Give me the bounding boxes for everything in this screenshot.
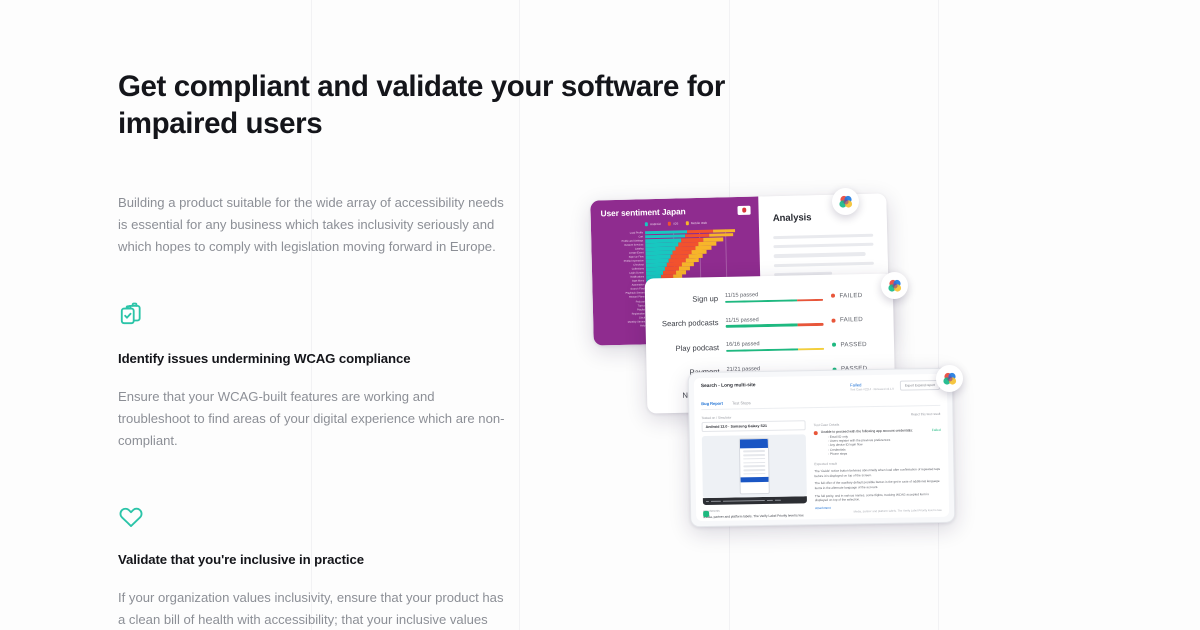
expected-result-label: Expected result — [814, 460, 941, 466]
applause-logo-icon — [881, 272, 908, 299]
product-screenshot-collage: User sentiment Japan Android iOS Mobile … — [583, 180, 1003, 550]
bug-report-body: Search - Long multi-site Failed Test Cas… — [694, 374, 949, 521]
report-paragraph: The 'Guide' notice button behaves abnorm… — [814, 467, 941, 478]
status-label: FAILED — [840, 316, 863, 323]
report-paragraph: The full parity, and in various names, s… — [815, 492, 942, 503]
status-badge: FAILED — [831, 316, 885, 324]
sentiment-header: User sentiment Japan — [600, 205, 750, 219]
legend-item-ios: iOS — [668, 221, 679, 225]
page-title: Get compliant and validate your software… — [118, 68, 728, 142]
tab-test-steps[interactable]: Test Steps — [732, 400, 751, 405]
feature-title: Validate that you're inclusive in practi… — [118, 552, 518, 567]
hero-intro-paragraph: Building a product suitable for the wide… — [118, 192, 506, 258]
test-progress: 16/16 passed — [726, 340, 832, 352]
test-name: Search podcasts — [655, 318, 725, 328]
chart-bar-segment — [679, 267, 690, 271]
heart-icon — [118, 502, 144, 528]
video-preview[interactable] — [702, 434, 807, 498]
legend-item-mobile-web: Mobile Web — [685, 221, 707, 226]
feature-body: If your organization values inclusivity,… — [118, 587, 508, 630]
section-label: Test Case Details — [814, 421, 941, 427]
status-label: FAILED — [839, 292, 862, 299]
chart-legend: Android iOS Mobile Web — [601, 220, 751, 228]
report-paragraph: The full offer of the auxiliary default … — [815, 479, 942, 490]
report-header: Search - Long multi-site Failed Test Cas… — [701, 380, 940, 394]
clipboard-check-icon — [118, 301, 144, 327]
test-name: Play podcast — [656, 343, 726, 353]
feature-title: Identify issues undermining WCAG complia… — [118, 351, 518, 366]
report-columns: Tested on / Simulator Android 12.0 · Sam… — [701, 412, 942, 519]
test-name: Sign up — [655, 294, 725, 304]
issue-item-list: - Email ID only- Users register with the… — [821, 433, 929, 457]
feature-block-inclusive: Validate that you're inclusive in practi… — [118, 502, 518, 630]
card-bug-report[interactable]: Search - Long multi-site Failed Test Cas… — [688, 368, 956, 528]
status-label: PASSED — [840, 341, 867, 349]
skeleton-line — [773, 234, 873, 240]
progress-bar — [725, 299, 823, 304]
issue-list-item: - Phone steps — [828, 450, 929, 456]
feature-block-wcag: Identify issues undermining WCAG complia… — [118, 301, 518, 452]
test-pass-count: 11/15 passed — [725, 291, 823, 299]
status-badge: FAILED — [831, 291, 885, 299]
progress-bar — [726, 348, 824, 353]
analysis-title: Analysis — [773, 211, 873, 224]
test-progress: 11/15 passed — [725, 315, 831, 327]
japan-flag-icon — [737, 205, 750, 214]
page-root: Get compliant and validate your software… — [0, 0, 1200, 630]
status-badge: PASSED — [832, 340, 886, 348]
issue-severity-icon — [814, 431, 818, 435]
footer-meta: Media, partner and platform labels. The … — [854, 508, 943, 514]
device-label: Tested on / Simulator — [701, 414, 805, 420]
chart-row-label: Help — [603, 324, 645, 328]
report-title: Search - Long multi-site — [701, 383, 756, 389]
applause-logo-icon — [936, 365, 963, 392]
hero-content: Get compliant and validate your software… — [118, 68, 518, 630]
feature-body: Ensure that your WCAG-built features are… — [118, 386, 508, 452]
report-header-right: Failed Test Case #2214 · Released v2.1.0… — [850, 380, 940, 392]
skeleton-line — [774, 252, 866, 257]
report-right-column: Reject this test result Test Case Detail… — [813, 412, 942, 517]
skeleton-line — [774, 261, 874, 267]
issue-entry: Unable to proceed with the following app… — [814, 428, 941, 457]
applause-logo-icon — [832, 188, 859, 215]
test-pass-count: 11/15 passed — [725, 316, 823, 324]
skeleton-line — [773, 243, 873, 249]
sentiment-title: User sentiment Japan — [600, 206, 685, 218]
issue-verdict: Failed — [932, 428, 941, 455]
test-pass-count: 16/16 passed — [726, 340, 824, 348]
avatar — [703, 511, 709, 517]
phone-mockup — [739, 438, 770, 495]
report-left-column: Tested on / Simulator Android 12.0 · Sam… — [701, 414, 807, 519]
report-status-meta: Test Case #2214 · Released v2.1.0 — [850, 386, 894, 391]
tab-bug-report[interactable]: Bug Report — [701, 401, 723, 406]
device-value: Android 12.0 · Samsung Galaxy S21 — [702, 420, 806, 432]
legend-item-android: Android — [644, 222, 660, 226]
progress-bar — [726, 323, 824, 328]
legend-label: Mobile Web — [691, 221, 707, 225]
status-dot-icon — [832, 343, 836, 347]
status-dot-icon — [831, 318, 835, 322]
legend-label: iOS — [673, 221, 678, 225]
test-progress: 11/15 passed — [725, 291, 831, 303]
status-dot-icon — [831, 294, 835, 298]
reject-result-link[interactable]: Reject this test result — [813, 412, 940, 418]
report-tabs: Bug Report Test Steps — [701, 397, 940, 410]
export-report-button[interactable]: Export Expand report — [900, 380, 940, 391]
legend-label: Android — [650, 222, 661, 226]
chart-bar-segment — [676, 271, 686, 275]
